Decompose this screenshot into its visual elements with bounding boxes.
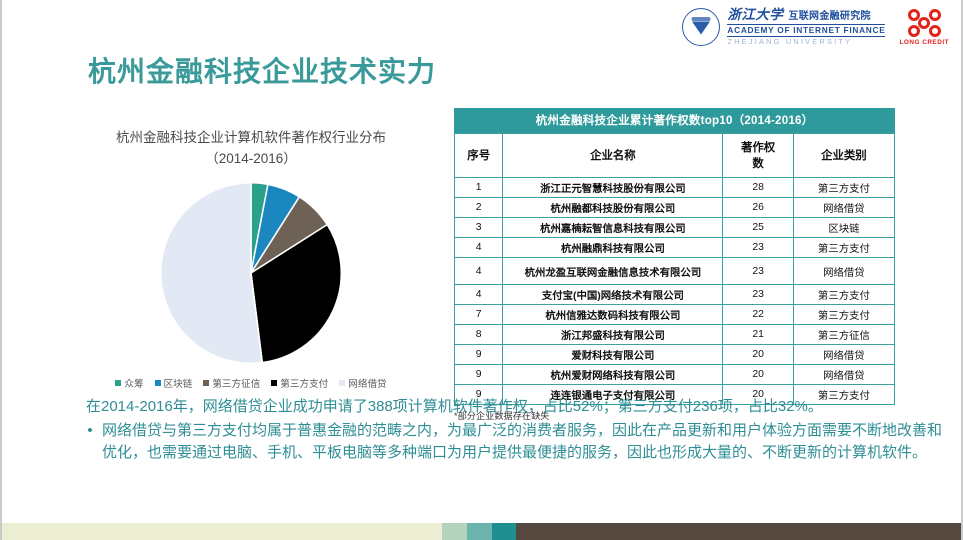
cell-category: 网络借贷 (793, 365, 894, 385)
table-row: 1浙江正元智慧科技股份有限公司28第三方支付 (455, 178, 895, 198)
cell-copyright-count: 20 (723, 365, 793, 385)
cell-index: 9 (455, 365, 503, 385)
legend-swatch-icon (271, 380, 277, 386)
cell-index: 3 (455, 218, 503, 238)
cell-category: 网络借贷 (793, 198, 894, 218)
table-body: 1浙江正元智慧科技股份有限公司28第三方支付2杭州融都科技股份有限公司26网络借… (455, 178, 895, 405)
ranking-table: 序号 企业名称 著作权 数 企业类别 1浙江正元智慧科技股份有限公司28第三方支… (454, 133, 895, 405)
pie-canvas-wrap (86, 178, 416, 368)
column-header-copyright-count-line1: 著作权 (741, 142, 775, 154)
legend-label: 网络借贷 (348, 376, 386, 390)
cell-copyright-count: 23 (723, 258, 793, 285)
cell-company-name: 杭州融鼎科技有限公司 (503, 238, 723, 258)
legend-swatch-icon (155, 380, 161, 386)
cell-category: 第三方支付 (793, 238, 894, 258)
zhejiang-university-seal-icon (682, 8, 720, 46)
legend-item-网络借贷: 网络借贷 (339, 376, 386, 390)
legend-swatch-icon (203, 380, 209, 386)
legend-item-第三方征信: 第三方征信 (203, 376, 260, 390)
header-logo-area: 浙江大学 互联网金融研究院 ACADEMY OF INTERNET FINANC… (682, 8, 949, 46)
pie-chart (156, 178, 346, 368)
cell-company-name: 浙江正元智慧科技股份有限公司 (503, 178, 723, 198)
cell-copyright-count: 28 (723, 178, 793, 198)
column-header-copyright-count: 著作权 数 (723, 134, 793, 178)
table-row: 7杭州信雅达数码科技有限公司22第三方支付 (455, 305, 895, 325)
zju-name-sub: 互联网金融研究院 (788, 12, 870, 23)
cell-copyright-count: 25 (723, 218, 793, 238)
bottom-bar-segment-cream (2, 523, 442, 540)
summary-paragraph: 在2014-2016年，网络借贷企业成功申请了388项计算机软件著作权，占比52… (86, 396, 950, 417)
bottom-bar-segment-dark-teal (492, 523, 516, 540)
long-credit-logo-text: LONG CREDIT (899, 39, 949, 46)
cell-company-name: 杭州嘉楠耘智信息科技有限公司 (503, 218, 723, 238)
legend-label: 众筹 (124, 376, 143, 390)
zju-chinese-name: 浙江大学 互联网金融研究院 (727, 8, 885, 23)
cell-index: 7 (455, 305, 503, 325)
page-title: 杭州金融科技企业技术实力 (88, 50, 436, 90)
table-caption: 杭州金融科技企业累计著作权数top10（2014-2016） (454, 108, 895, 133)
cell-category: 网络借贷 (793, 258, 894, 285)
chart-title-line1: 杭州金融科技企业计算机软件著作权行业分布 (86, 128, 416, 149)
cell-copyright-count: 20 (723, 345, 793, 365)
legend-swatch-icon (339, 380, 345, 386)
cell-company-name: 浙江邦盛科技有限公司 (503, 325, 723, 345)
cell-category: 第三方支付 (793, 305, 894, 325)
cell-index: 4 (455, 258, 503, 285)
chart-legend: 众筹区块链第三方征信第三方支付网络借贷 (86, 376, 416, 390)
pie-chart-block: 杭州金融科技企业计算机软件著作权行业分布 （2014-2016） 众筹区块链第三… (86, 128, 416, 390)
table-header-row: 序号 企业名称 著作权 数 企业类别 (455, 134, 895, 178)
cell-copyright-count: 23 (723, 238, 793, 258)
cell-index: 1 (455, 178, 503, 198)
legend-item-区块链: 区块链 (155, 376, 193, 390)
legend-label: 区块链 (164, 376, 193, 390)
table-row: 8浙江邦盛科技有限公司21第三方征信 (455, 325, 895, 345)
table-row: 9爱财科技有限公司20网络借贷 (455, 345, 895, 365)
legend-label: 第三方支付 (280, 376, 328, 390)
cell-category: 第三方支付 (793, 285, 894, 305)
cell-company-name: 杭州爱财网络科技有限公司 (503, 365, 723, 385)
cell-copyright-count: 22 (723, 305, 793, 325)
cell-category: 区块链 (793, 218, 894, 238)
cell-company-name: 杭州信雅达数码科技有限公司 (503, 305, 723, 325)
bullet-marker-icon: • (86, 420, 94, 463)
table-row: 9杭州爱财网络科技有限公司20网络借贷 (455, 365, 895, 385)
cell-company-name: 杭州融都科技股份有限公司 (503, 198, 723, 218)
cell-index: 9 (455, 345, 503, 365)
body-text-block: 在2014-2016年，网络借贷企业成功申请了388项计算机软件著作权，占比52… (86, 396, 950, 463)
column-header-index: 序号 (455, 134, 503, 178)
table-row: 2杭州融都科技股份有限公司26网络借贷 (455, 198, 895, 218)
bullet-item: • 网络借贷与第三方支付均属于普惠金融的范畴之内，为最广泛的消费者服务，因此在产… (86, 420, 950, 463)
cell-index: 2 (455, 198, 503, 218)
bottom-decoration-bar (2, 523, 961, 540)
cell-copyright-count: 26 (723, 198, 793, 218)
cell-company-name: 爱财科技有限公司 (503, 345, 723, 365)
table-row: 3杭州嘉楠耘智信息科技有限公司25区块链 (455, 218, 895, 238)
chart-title: 杭州金融科技企业计算机软件著作权行业分布 （2014-2016） (86, 128, 416, 170)
cell-index: 8 (455, 325, 503, 345)
slide-root: 浙江大学 互联网金融研究院 ACADEMY OF INTERNET FINANC… (2, 0, 961, 540)
ranking-table-block: 杭州金融科技企业累计著作权数top10（2014-2016） 序号 企业名称 著… (454, 108, 895, 422)
cell-index: 4 (455, 238, 503, 258)
chart-title-line2: （2014-2016） (86, 149, 416, 170)
table-row: 4杭州龙盈互联网金融信息技术有限公司23网络借贷 (455, 258, 895, 285)
pie-slice-网络借贷 (161, 183, 263, 364)
zju-logo-text: 浙江大学 互联网金融研究院 ACADEMY OF INTERNET FINANC… (727, 8, 885, 45)
column-header-category: 企业类别 (793, 134, 894, 178)
bullet-text: 网络借贷与第三方支付均属于普惠金融的范畴之内，为最广泛的消费者服务，因此在产品更… (102, 420, 950, 463)
bottom-bar-segment-light-green (442, 523, 467, 540)
column-header-company: 企业名称 (503, 134, 723, 178)
column-header-copyright-count-line2: 数 (752, 158, 763, 170)
cell-index: 4 (455, 285, 503, 305)
cell-copyright-count: 23 (723, 285, 793, 305)
zju-english-line2: ZHEJIANG UNIVERSITY (727, 38, 885, 46)
table-row: 4支付宝(中国)网络技术有限公司23第三方支付 (455, 285, 895, 305)
bottom-bar-segment-medium-teal (467, 523, 492, 540)
bottom-bar-segment-brown (516, 523, 961, 540)
legend-label: 第三方征信 (212, 376, 260, 390)
cell-company-name: 杭州龙盈互联网金融信息技术有限公司 (503, 258, 723, 285)
cell-copyright-count: 21 (723, 325, 793, 345)
long-credit-logo: LONG CREDIT (899, 9, 949, 46)
cell-category: 第三方支付 (793, 178, 894, 198)
cell-category: 网络借贷 (793, 345, 894, 365)
table-row: 4杭州融鼎科技有限公司23第三方支付 (455, 238, 895, 258)
zju-english-line1: ACADEMY OF INTERNET FINANCE (727, 24, 885, 37)
legend-item-众筹: 众筹 (115, 376, 143, 390)
legend-item-第三方支付: 第三方支付 (271, 376, 328, 390)
cell-category: 第三方征信 (793, 325, 894, 345)
cell-company-name: 支付宝(中国)网络技术有限公司 (503, 285, 723, 305)
zju-logo: 浙江大学 互联网金融研究院 ACADEMY OF INTERNET FINANC… (682, 8, 885, 46)
legend-swatch-icon (115, 380, 121, 386)
zju-name-main: 浙江大学 (727, 8, 783, 22)
long-credit-knot-icon (908, 9, 941, 37)
